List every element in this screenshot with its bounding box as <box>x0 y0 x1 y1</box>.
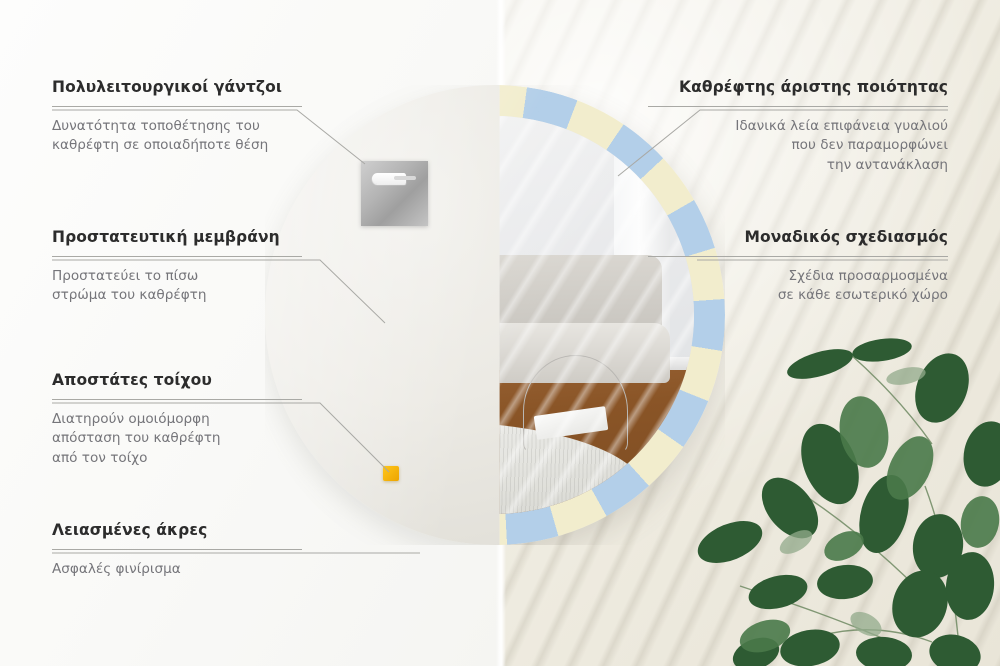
callout-description: Προστατεύει το πίσω στρώμα του καθρέφτη <box>52 267 302 306</box>
callout-description: Διατηρούν ομοιόμορφη απόσταση του καθρέφ… <box>52 410 302 469</box>
callout-smoothed-edges: Λειασμένες άκρες Ασφαλές φινίρισμα <box>52 521 302 579</box>
callout-rule <box>648 106 948 107</box>
infographic-stage: Πολυλειτουργικοί γάντζοι Δυνατότητα τοπο… <box>0 0 1000 666</box>
callout-multifunctional-hooks: Πολυλειτουργικοί γάντζοι Δυνατότητα τοπο… <box>52 78 302 156</box>
wall-spacer-marker <box>383 466 399 481</box>
hook-slot-icon <box>372 173 406 184</box>
callout-rule <box>52 256 302 257</box>
callout-title: Προστατευτική μεμβράνη <box>52 228 302 247</box>
callout-rule <box>648 256 948 257</box>
callout-title: Αποστάτες τοίχου <box>52 371 302 390</box>
callout-description: Ασφαλές φινίρισμα <box>52 560 302 580</box>
callout-rule <box>52 399 302 400</box>
callout-description: Δυνατότητα τοποθέτησης του καθρέφτη σε ο… <box>52 117 302 156</box>
callout-rule <box>52 106 302 107</box>
wall-hook-plate <box>361 161 428 226</box>
callout-protective-membrane: Προστατευτική μεμβράνη Προστατεύει το πί… <box>52 228 302 306</box>
callout-description: Σχέδια προσαρμοσμένα σε κάθε εσωτερικό χ… <box>648 267 948 306</box>
callout-title: Μοναδικός σχεδιασμός <box>648 228 948 247</box>
callout-rule <box>52 549 302 550</box>
callout-top-quality-mirror: Καθρέφτης άριστης ποιότητας Ιδανικά λεία… <box>648 78 948 176</box>
callout-title: Λειασμένες άκρες <box>52 521 302 540</box>
callout-wall-spacers: Αποστάτες τοίχου Διατηρούν ομοιόμορφη απ… <box>52 371 302 469</box>
callout-unique-design: Μοναδικός σχεδιασμός Σχέδια προσαρμοσμέν… <box>648 228 948 306</box>
callout-description: Ιδανικά λεία επιφάνεια γυαλιού που δεν π… <box>648 117 948 176</box>
callout-title: Πολυλειτουργικοί γάντζοι <box>52 78 302 97</box>
callout-title: Καθρέφτης άριστης ποιότητας <box>648 78 948 97</box>
